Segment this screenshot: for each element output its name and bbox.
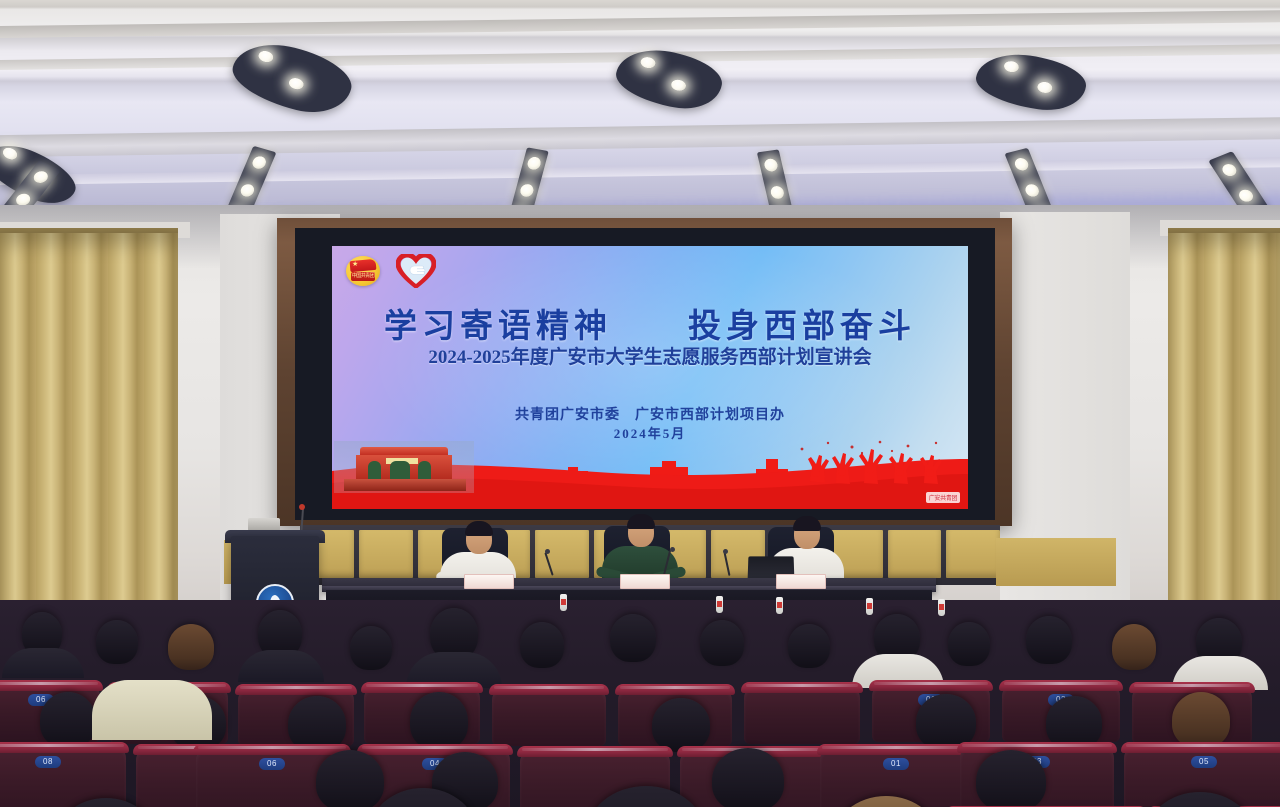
audience-head (788, 624, 830, 668)
audience-head (40, 692, 96, 748)
seat-number: 05 (1191, 756, 1217, 768)
spotlight-bulb-icon (288, 77, 305, 91)
cyl-emblem-text: 中国共青团 (351, 272, 375, 281)
microphone-head-icon (670, 547, 675, 552)
name-placard (776, 574, 826, 589)
stage-wood-panel-right (996, 538, 1116, 586)
audience-seat[interactable] (492, 688, 606, 746)
spotlight-bulb-icon (1, 146, 19, 162)
conference-hall-photo: ★ 中国共青团 学习寄语精神 投身西部奋斗 2024-2025年度广安市大学生志… (0, 0, 1280, 807)
led-watermark: 广安共青团 (926, 492, 960, 503)
audience-head (350, 626, 392, 670)
spotlight-bulb-icon (1003, 60, 1019, 73)
curtain-left (0, 233, 178, 653)
ceiling-band (0, 116, 1280, 157)
microphone-head-icon (545, 549, 550, 554)
spotlight-bulb-icon (526, 156, 542, 171)
ceiling (0, 0, 1280, 232)
person-hair (465, 521, 493, 536)
ceiling-band (0, 10, 1280, 39)
audience-head (316, 750, 384, 807)
spotlight-bulb-icon (257, 49, 274, 63)
ceiling-light-fixture (973, 49, 1089, 116)
ceiling-band (0, 156, 1280, 185)
led-subtitle: 2024-2025年度广安市大学生志愿服务西部计划宣讲会 (332, 342, 968, 369)
water-bottle (716, 596, 723, 613)
name-placard (464, 574, 514, 589)
spotlight-bulb-icon (31, 169, 51, 185)
name-placard (620, 574, 670, 589)
led-display: ★ 中国共青团 学习寄语精神 投身西部奋斗 2024-2025年度广安市大学生志… (332, 246, 968, 509)
audience-head (976, 750, 1046, 807)
communist-youth-league-emblem-icon: ★ 中国共青团 (346, 256, 380, 286)
audience-head (700, 620, 744, 666)
audience-head (410, 692, 468, 750)
audience-head (1172, 692, 1230, 748)
wood-panel (535, 530, 589, 578)
wood-panel (888, 530, 942, 578)
ceiling-light-fixture (227, 34, 358, 121)
audience-head (1112, 624, 1156, 670)
audience-head (96, 620, 138, 664)
gate-arch (368, 461, 381, 479)
spotlight-bulb-icon (1023, 183, 1041, 198)
person-hair (793, 516, 821, 531)
seat-number: 08 (35, 756, 61, 768)
spotlight-bulb-icon (769, 185, 785, 200)
spotlight-bulb-icon (1037, 81, 1053, 94)
volunteer-heart-hand-logo-icon (396, 254, 436, 288)
audience-head (168, 624, 214, 670)
gate-roof (360, 447, 448, 455)
audience-head (652, 698, 710, 752)
water-bottle (776, 597, 783, 614)
spotlight-bulb-icon (763, 158, 779, 173)
spotlight-bulb-icon (250, 155, 268, 171)
audience-head (1026, 616, 1072, 664)
seat-number: 06 (259, 758, 285, 770)
audience-shoulders (238, 650, 324, 682)
gate-arch (390, 461, 410, 479)
led-organizer: 共青团广安市委 广安市西部计划项目办 (332, 404, 968, 424)
spotlight-bulb-icon (519, 183, 535, 198)
water-bottle (866, 598, 873, 615)
person-hair (627, 514, 655, 529)
led-headline: 学习寄语精神 投身西部奋斗 (332, 299, 968, 347)
spotlight-bulb-icon (1013, 157, 1031, 172)
spotlight-bulb-icon (670, 79, 687, 92)
water-bottle (938, 599, 945, 616)
spotlight-bulb-icon (1220, 162, 1239, 178)
microphone-head-icon (723, 549, 728, 554)
audience-area: 06 01 03 08 06 04 (0, 600, 1280, 807)
audience-seat[interactable] (744, 686, 860, 744)
spotlight-bulb-icon (239, 183, 257, 199)
star-icon: ★ (352, 261, 358, 268)
gate-base (344, 479, 466, 491)
gate-arch (418, 461, 431, 479)
wood-panel (946, 530, 1000, 578)
spotlight-bulb-icon (1236, 188, 1255, 204)
wood-panel (359, 530, 413, 578)
led-logo-row: ★ 中国共青团 (346, 254, 436, 288)
audience-head (712, 748, 784, 807)
podium-microphone-tip-icon (299, 504, 305, 510)
audience-shoulders (2, 648, 84, 678)
led-bottom-artwork-band: 广安共青团 (332, 437, 968, 509)
water-bottle (560, 594, 567, 611)
spotlight-bulb-icon (640, 56, 657, 69)
seat-number: 01 (883, 758, 909, 770)
audience-head (610, 614, 656, 662)
curtain-right (1168, 233, 1280, 653)
audience-shoulders (92, 680, 212, 740)
tiananmen-gate-image (334, 441, 474, 493)
audience-head (948, 622, 990, 666)
audience-head (520, 622, 564, 668)
